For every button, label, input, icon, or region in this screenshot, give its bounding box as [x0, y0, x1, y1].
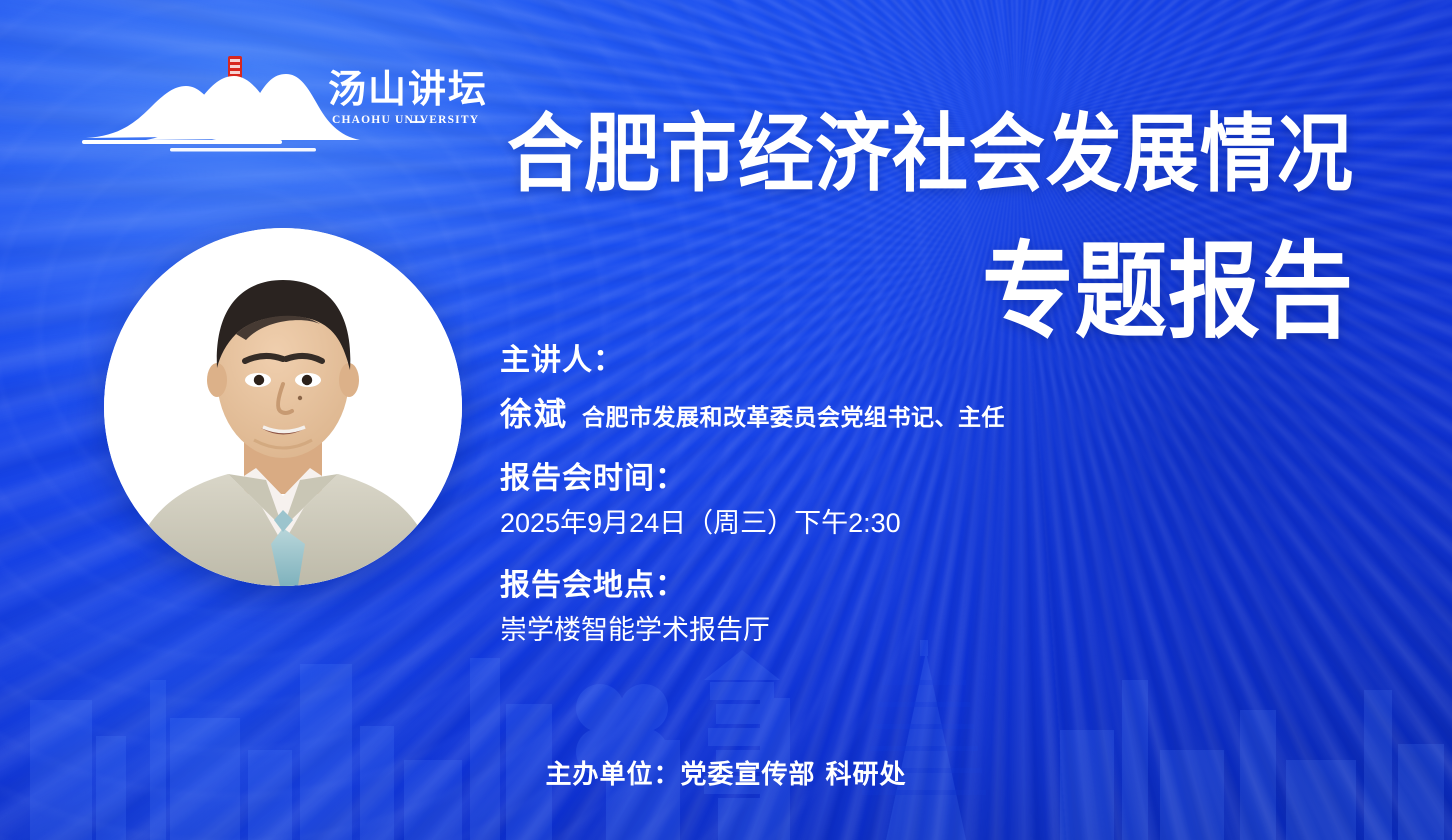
logo-name-en: CHAOHU UNIVERSITY: [332, 114, 479, 126]
portrait-illustration: [104, 228, 462, 586]
title-line-2: 专题报告: [507, 240, 1354, 345]
time-value: 2025年9月24日（周三）下午2:30: [500, 510, 1400, 537]
logo-rule-left: [274, 121, 324, 123]
speaker-name: 徐斌: [500, 398, 568, 430]
place-label: 报告会地点：: [500, 571, 1400, 601]
title-line-1: 合肥市经济社会发展情况: [507, 112, 1354, 197]
logo-name-cn: 汤山讲坛: [328, 70, 488, 108]
speaker-portrait: [104, 228, 462, 586]
brand-logo: 汤山讲坛 CHAOHU UNIVERSITY: [74, 52, 424, 152]
speaker-label: 主讲人：: [500, 346, 1400, 376]
page-title: 合肥市经济社会发展情况 专题报告: [507, 112, 1354, 332]
city-skyline-silhouette: [0, 640, 1452, 840]
organizer-line: 主办单位：党委宣传部 科研处: [0, 754, 1452, 791]
speaker-title: 合肥市发展和改革委员会党组书记、主任: [582, 407, 1005, 430]
time-block: 报告会时间： 2025年9月24日（周三）下午2:30: [500, 464, 1400, 537]
speaker-row: 徐斌 合肥市发展和改革委员会党组书记、主任: [500, 398, 1400, 430]
logo-rule-right: [410, 121, 424, 123]
event-info: 主讲人： 徐斌 合肥市发展和改革委员会党组书记、主任 报告会时间： 2025年9…: [500, 346, 1400, 644]
place-block: 报告会地点： 崇学楼智能学术报告厅: [500, 571, 1400, 644]
poster-canvas: 汤山讲坛 CHAOHU UNIVERSITY 合肥市经济社会发展情况 专题报告: [0, 0, 1452, 840]
time-label: 报告会时间：: [500, 464, 1400, 494]
place-value: 崇学楼智能学术报告厅: [500, 617, 1400, 644]
